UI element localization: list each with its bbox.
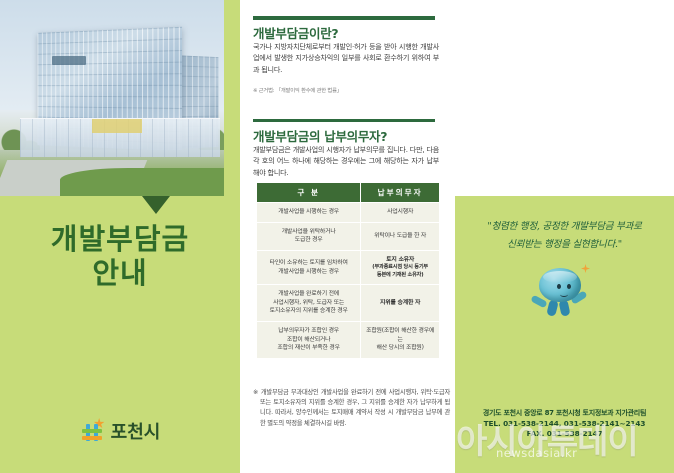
section2-rule (253, 119, 435, 122)
table-body: 개발사업을 시행하는 경우사업시행자개발사업을 위탁하거나도급한 경우위탁이나 … (257, 203, 440, 359)
succession-note: ※ 개발부담금 부과대상인 개발사업을 완료하기 전에 사업시행자, 위탁·도급… (253, 388, 450, 429)
table-header-row: 구 분 납부의무자 (257, 183, 440, 203)
cell-payer: 위탁이나 도급을 한 자 (361, 222, 440, 250)
section1-heading: 개발부담금이란? (253, 23, 338, 42)
cell-payer: 토지 소유자(부과종료시점 당시 등기부등본에 기재된 소유자) (361, 250, 440, 285)
mascot-mouth (560, 292, 568, 297)
slogan-text: "청렴한 행정, 공정한 개발부담금 부과로 신뢰받는 행정을 실현합니다." (469, 218, 660, 253)
mascot-eye-left (557, 284, 561, 289)
building-entrance-signage (92, 119, 142, 133)
table-row: 개발사업을 시행하는 경우사업시행자 (257, 203, 440, 223)
pocheon-city-logo: 포천시 (0, 418, 240, 444)
section2-body: 개발부담금은 개발사업의 시행자가 납부의무를 집니다. 다만, 다음 각 호의… (253, 144, 439, 178)
cover-title-line2: 안내 (0, 256, 240, 290)
cover-title: 개발부담금 안내 (0, 222, 240, 290)
table-row: 개발사업을 위탁하거나도급한 경우위탁이나 도급을 한 자 (257, 222, 440, 250)
section1-rule (253, 16, 435, 20)
cell-payer: 지위를 승계한 자 (361, 285, 440, 322)
cell-payer: 조합원(조합이 해산한 경우에는해산 당시의 조합원) (361, 322, 440, 359)
right-green-card: "청렴한 행정, 공정한 개발부담금 부과로 신뢰받는 행정을 실현합니다." … (455, 196, 674, 473)
logo-bar-h1 (82, 429, 102, 433)
sparkle-icon (581, 264, 590, 273)
section2-heading: 개발부담금의 납부의무자? (253, 126, 387, 145)
table-header-payer: 납부의무자 (361, 183, 440, 203)
section1-body: 국가나 지방자치단체로부터 개발인·허가 등을 받아 시행한 개발사업에서 발생… (253, 41, 439, 75)
slogan-line1: "청렴한 행정, 공정한 개발부담금 부과로 (487, 221, 641, 232)
contact-tel[interactable]: TEL. 031-538-2144, 031-538-2141~2143 (461, 419, 668, 430)
cell-division: 개발사업을 시행하는 경우 (257, 203, 361, 223)
water-drop-mascot-icon (531, 264, 595, 330)
table-row: 타인이 소유하는 토지를 임차하여개발사업을 시행하는 경우토지 소유자(부과종… (257, 250, 440, 285)
table-row: 개발사업을 완료하기 전에사업시행자, 위탁, 도급자 또는토지소유자의 지위를… (257, 285, 440, 322)
table-row: 납부의무자가 조합인 경우조합이 해산되거나조합의 재산이 부족한 경우조합원(… (257, 322, 440, 359)
section1-legal-note: ※ 근거법: 「개발이익 환수에 관한 법률」 (253, 88, 439, 96)
cell-payer: 사업시행자 (361, 203, 440, 223)
contact-address: 경기도 포천시 중앙로 87 포천시청 토지정보과 지가관리팀 (461, 408, 668, 419)
right-back-panel: "청렴한 행정, 공정한 개발부담금 부과로 신뢰받는 행정을 실현합니다." … (455, 0, 674, 473)
cell-payer-sub: (부과종료시점 당시 등기부등본에 기재된 소유자) (364, 264, 436, 279)
cell-division: 납부의무자가 조합인 경우조합이 해산되거나조합의 재산이 부족한 경우 (257, 322, 361, 359)
cell-division: 개발사업을 완료하기 전에사업시행자, 위탁, 도급자 또는토지소유자의 지위를… (257, 285, 361, 322)
left-cover-panel: 개발부담금 안내 포천시 (0, 0, 240, 473)
contact-block: 경기도 포천시 중앙로 87 포천시청 토지정보과 지가관리팀 TEL. 031… (461, 408, 668, 440)
cover-title-line1: 개발부담금 (0, 222, 240, 256)
slogan-line2: 신뢰받는 행정을 실현합니다." (507, 239, 622, 250)
building-photo (0, 0, 224, 196)
logo-city-name: 포천시 (111, 418, 161, 444)
contact-fax: FAX. 031-538-2147 (461, 429, 668, 440)
brochure-page: 개발부담금 안내 포천시 개발부담금이란? 국가나 지방자치단체로부터 개발인·… (0, 0, 674, 473)
photo-lawn (60, 168, 224, 196)
hash-star-logo-icon (80, 418, 106, 444)
logo-bar-h2 (82, 436, 102, 440)
payer-duty-table: 구 분 납부의무자 개발사업을 시행하는 경우사업시행자개발사업을 위탁하거나도… (256, 182, 440, 359)
table-header-division: 구 분 (257, 183, 361, 203)
building-roof-sign (52, 56, 86, 65)
cell-payer-sub: (조합이 해산한 경우에는해산 당시의 조합원) (377, 328, 435, 351)
green-triangle-notch (142, 196, 170, 214)
cell-division: 개발사업을 위탁하거나도급한 경우 (257, 222, 361, 250)
cell-division: 타인이 소유하는 토지를 임차하여개발사업을 시행하는 경우 (257, 250, 361, 285)
mascot-eye-right (567, 284, 571, 289)
mascot-body (539, 268, 581, 302)
